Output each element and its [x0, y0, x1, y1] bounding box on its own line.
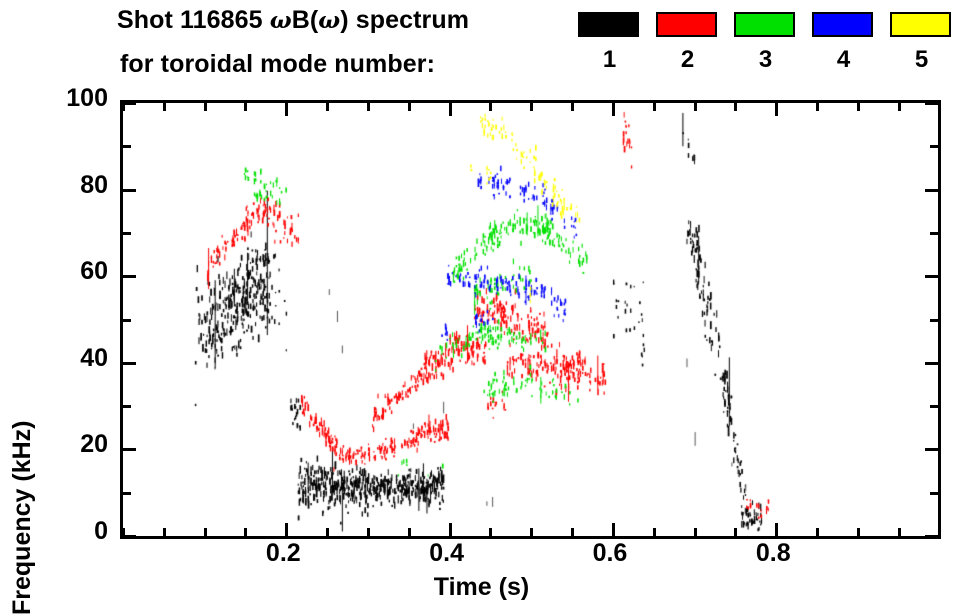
x-tick-0.95	[898, 528, 901, 536]
x-tick-top-0.85	[816, 103, 819, 111]
x-tick-0.5	[530, 528, 533, 536]
x-tick-label-0.8: 0.8	[713, 541, 833, 566]
x-tick-0.25	[326, 528, 329, 536]
y-tick-right-0	[925, 535, 938, 538]
x-tick-top-0.05	[163, 103, 166, 111]
y-tick-right-60	[925, 275, 938, 278]
legend-label-2: 2	[656, 48, 719, 72]
legend-label-3: 3	[734, 48, 797, 72]
x-tick-top-0.2	[285, 103, 288, 116]
y-tick-30	[123, 405, 131, 408]
x-tick-top-0.65	[653, 103, 656, 111]
legend-item-5: 5	[890, 0, 953, 72]
legend-swatch-2	[656, 12, 717, 37]
y-tick-20	[123, 448, 136, 451]
spectrogram-canvas	[123, 103, 938, 536]
y-tick-40	[123, 362, 136, 365]
x-tick-label-0.2: 0.2	[223, 541, 343, 566]
x-tick-0.15	[244, 528, 247, 536]
x-tick-0.05	[163, 528, 166, 536]
x-tick-0.9	[857, 528, 860, 536]
x-tick-top-0.55	[571, 103, 574, 111]
x-tick-label-0.4: 0.4	[387, 541, 507, 566]
x-tick-0.45	[489, 528, 492, 536]
x-tick-top-0.95	[898, 103, 901, 111]
legend-label-5: 5	[890, 48, 953, 72]
x-tick-top-0.1	[204, 103, 207, 111]
y-tick-80	[123, 189, 136, 192]
legend-item-2: 2	[656, 0, 719, 72]
legend-label-4: 4	[812, 48, 875, 72]
plot-canvas-container	[123, 103, 938, 536]
title-line-1: Shot 116865 ωB(ω) spectrum	[117, 6, 469, 35]
x-tick-0.75	[734, 528, 737, 536]
title-b-text: B(	[292, 6, 319, 34]
x-tick-0.65	[653, 528, 656, 536]
title-shot-text: Shot 116865	[117, 6, 270, 34]
x-tick-label-0.6: 0.6	[550, 541, 670, 566]
y-tick-50	[123, 319, 131, 322]
x-tick-top-0.25	[326, 103, 329, 111]
legend-item-3: 3	[734, 0, 797, 72]
x-tick-top-0	[122, 103, 125, 111]
x-tick-0.55	[571, 528, 574, 536]
y-tick-60	[123, 275, 136, 278]
x-tick-0.8	[775, 523, 778, 536]
x-tick-0.85	[816, 528, 819, 536]
x-tick-0.3	[367, 528, 370, 536]
y-tick-right-10	[930, 492, 938, 495]
y-tick-label-40: 40	[0, 346, 118, 371]
y-tick-right-30	[930, 405, 938, 408]
title-line-2: for toroidal mode number:	[120, 50, 435, 79]
x-tick-top-0.15	[244, 103, 247, 111]
x-tick-0.4	[449, 523, 452, 536]
y-tick-10	[123, 492, 131, 495]
x-tick-top-0.5	[530, 103, 533, 111]
y-tick-label-60: 60	[0, 259, 118, 284]
x-tick-0	[122, 528, 125, 536]
x-tick-0.2	[285, 523, 288, 536]
title-spectrum-text: ) spectrum	[340, 6, 469, 34]
y-tick-right-70	[930, 232, 938, 235]
x-tick-top-0.75	[734, 103, 737, 111]
y-tick-right-20	[925, 448, 938, 451]
x-axis-title: Time (s)	[0, 573, 963, 602]
x-tick-top-0.7	[694, 103, 697, 111]
y-tick-label-100: 100	[0, 86, 118, 111]
spectrogram-figure: Shot 116865 ωB(ω) spectrum for toroidal …	[0, 0, 963, 615]
omega-symbol-1: ω	[270, 7, 292, 34]
y-tick-right-50	[930, 319, 938, 322]
legend-label-1: 1	[578, 48, 641, 72]
x-tick-top-0.4	[449, 103, 452, 116]
y-tick-label-80: 80	[0, 173, 118, 198]
x-tick-top-0.3	[367, 103, 370, 111]
x-tick-top-0.8	[775, 103, 778, 116]
y-tick-right-40	[925, 362, 938, 365]
legend: 12345	[578, 0, 963, 96]
legend-swatch-4	[812, 12, 873, 37]
y-tick-right-90	[930, 145, 938, 148]
x-tick-top-0.45	[489, 103, 492, 111]
plot-frame	[120, 100, 941, 539]
y-tick-90	[123, 145, 131, 148]
y-tick-right-100	[925, 102, 938, 105]
x-tick-top-0.9	[857, 103, 860, 111]
x-tick-top-0.35	[408, 103, 411, 111]
y-tick-right-80	[925, 189, 938, 192]
legend-swatch-5	[890, 12, 951, 37]
legend-item-1: 1	[578, 0, 641, 72]
x-tick-0.6	[612, 523, 615, 536]
x-tick-0.7	[694, 528, 697, 536]
x-tick-0.1	[204, 528, 207, 536]
legend-swatch-1	[578, 12, 639, 37]
y-tick-70	[123, 232, 131, 235]
x-tick-0.35	[408, 528, 411, 536]
legend-swatch-3	[734, 12, 795, 37]
x-tick-top-0.6	[612, 103, 615, 116]
omega-symbol-2: ω	[318, 7, 340, 34]
legend-item-4: 4	[812, 0, 875, 72]
